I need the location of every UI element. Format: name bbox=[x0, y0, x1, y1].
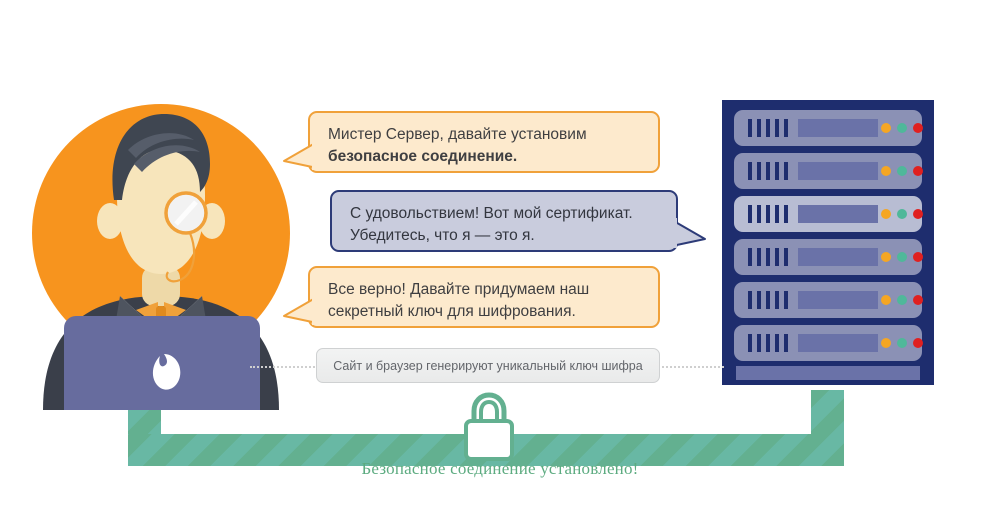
key-generation-note: Сайт и браузер генерируют уникальный клю… bbox=[316, 348, 660, 383]
server-unit bbox=[734, 110, 923, 146]
server-unit bbox=[734, 153, 923, 189]
speech-bubble-browser-2: Все верно! Давайте придумаем наш секретн… bbox=[308, 266, 660, 328]
server-unit bbox=[734, 196, 923, 232]
speech-bubble-server: С удовольствием! Вот мой сертификат. Убе… bbox=[330, 190, 678, 252]
bubble-2-line-2: Убедитесь, что я — это я. bbox=[350, 225, 658, 247]
server-rack bbox=[722, 100, 934, 385]
speech-bubble-tail-2 bbox=[672, 218, 706, 248]
dotted-connector-left bbox=[250, 366, 318, 368]
speech-bubble-tail-3 bbox=[283, 295, 317, 325]
bubble-3-line-1: Все верно! Давайте придумаем наш bbox=[328, 279, 640, 301]
speech-bubble-tail-1 bbox=[283, 140, 317, 170]
caption-secure-connection: Безопасное соединение установлено! bbox=[0, 459, 1000, 479]
server-unit bbox=[734, 325, 923, 361]
bubble-1-line-1: Мистер Сервер, давайте установим bbox=[328, 124, 640, 146]
browser-character bbox=[18, 88, 304, 410]
laptop-lid bbox=[64, 316, 260, 410]
dotted-connector-right bbox=[658, 366, 724, 368]
key-generation-note-text: Сайт и браузер генерируют уникальный клю… bbox=[333, 359, 642, 373]
bubble-1-line-2: безопасное соединение. bbox=[328, 148, 517, 165]
infographic-scene: Мистер Сервер, давайте установим безопас… bbox=[0, 0, 1000, 523]
padlock-icon bbox=[458, 392, 520, 462]
bubble-2-line-1: С удовольствием! Вот мой сертификат. bbox=[350, 203, 658, 225]
rack-base-bar bbox=[736, 366, 920, 380]
bubble-3-line-2: секретный ключ для шифрования. bbox=[328, 301, 640, 323]
padlock-body bbox=[466, 421, 512, 459]
speech-bubble-browser-1: Мистер Сервер, давайте установим безопас… bbox=[308, 111, 660, 173]
secure-tunnel-right-arm bbox=[811, 390, 844, 466]
server-unit bbox=[734, 239, 923, 275]
server-unit bbox=[734, 282, 923, 318]
